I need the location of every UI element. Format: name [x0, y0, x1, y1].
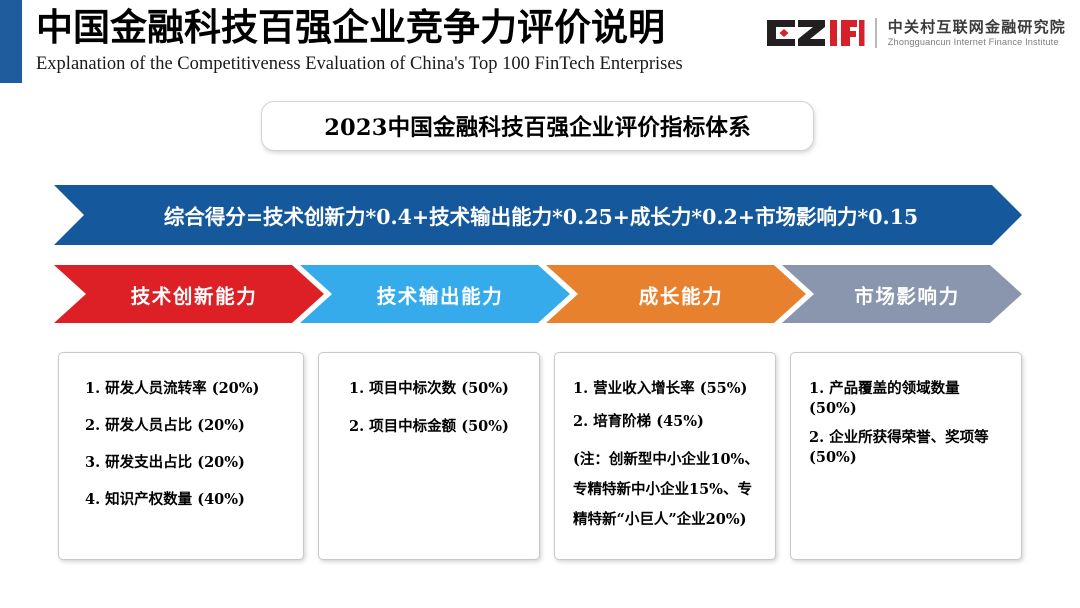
- dimension-chevron-market-influence[interactable]: 市场影响力: [782, 265, 1022, 323]
- page-title-chinese: 中国金融科技百强企业竞争力评价说明: [36, 4, 683, 50]
- dimension-chevron-tech-output[interactable]: 技术输出能力: [300, 265, 570, 323]
- dimension-chevron-growth[interactable]: 成长能力: [546, 265, 806, 323]
- indicator-item: 2. 企业所获得荣誉、奖项等 (50%): [809, 428, 1007, 468]
- header-accent-bar: [0, 0, 22, 83]
- page-header: 中国金融科技百强企业竞争力评价说明 Explanation of the Com…: [0, 0, 1080, 88]
- logo-text-block: 中关村互联网金融研究院 Zhongguancun Internet Financ…: [888, 18, 1066, 48]
- dimension-label: 成长能力: [629, 280, 723, 309]
- indicator-cards-row: 1. 研发人员流转率 (20%) 2. 研发人员占比 (20%) 3. 研发支出…: [0, 352, 1080, 564]
- indicator-card-market-influence: 1. 产品覆盖的领域数量 (50%) 2. 企业所获得荣誉、奖项等 (50%): [790, 352, 1022, 560]
- indicator-item: 4. 知识产权数量 (40%): [77, 490, 289, 510]
- indicator-item: 2. 研发人员占比 (20%): [77, 416, 289, 436]
- composite-score-formula-text: 综合得分=技术创新力*0.4+技术输出能力*0.25+成长力*0.2+市场影响力…: [158, 200, 918, 230]
- indicator-card-tech-output: 1. 项目中标次数 (50%) 2. 项目中标金额 (50%): [318, 352, 540, 560]
- logo-name-chinese: 中关村互联网金融研究院: [888, 18, 1066, 36]
- page-title-english: Explanation of the Competitiveness Evalu…: [36, 52, 683, 76]
- dimension-label: 市场影响力: [844, 280, 960, 309]
- indicator-note: (注：创新型中小企业10%、专精特新中小企业15%、专精特新“小巨人”企业20%…: [573, 445, 761, 535]
- logo-divider: [875, 18, 877, 48]
- dimension-chevron-tech-innovation[interactable]: 技术创新能力: [54, 265, 324, 323]
- logo-name-english: Zhongguancun Internet Finance Institute: [888, 36, 1066, 48]
- institute-logo: 中关村互联网金融研究院 Zhongguancun Internet Financ…: [765, 12, 1066, 54]
- indicator-item: 1. 研发人员流转率 (20%): [77, 379, 289, 399]
- indicator-card-tech-innovation: 1. 研发人员流转率 (20%) 2. 研发人员占比 (20%) 3. 研发支出…: [58, 352, 304, 560]
- indicator-item: 1. 产品覆盖的领域数量 (50%): [809, 379, 1007, 419]
- framework-title-box: 2023中国金融科技百强企业评价指标体系: [261, 101, 814, 151]
- czifi-logo-icon: [765, 18, 865, 48]
- indicator-card-growth: 1. 营业收入增长率 (55%) 2. 培育阶梯 (45%) (注：创新型中小企…: [554, 352, 776, 560]
- dimension-chevron-row: 技术创新能力 技术输出能力 成长能力 市场影响力: [0, 265, 1080, 323]
- indicator-item: 3. 研发支出占比 (20%): [77, 453, 289, 473]
- composite-score-formula-banner: 综合得分=技术创新力*0.4+技术输出能力*0.25+成长力*0.2+市场影响力…: [54, 185, 1022, 245]
- title-block: 中国金融科技百强企业竞争力评价说明 Explanation of the Com…: [36, 4, 683, 76]
- indicator-item: 2. 项目中标金额 (50%): [337, 417, 525, 437]
- dimension-label: 技术输出能力: [367, 280, 504, 309]
- indicator-item: 2. 培育阶梯 (45%): [573, 412, 761, 432]
- framework-title-text: 2023中国金融科技百强企业评价指标体系: [324, 110, 751, 142]
- indicator-item: 1. 项目中标次数 (50%): [337, 379, 525, 399]
- indicator-item: 1. 营业收入增长率 (55%): [573, 379, 761, 399]
- dimension-label: 技术创新能力: [121, 280, 258, 309]
